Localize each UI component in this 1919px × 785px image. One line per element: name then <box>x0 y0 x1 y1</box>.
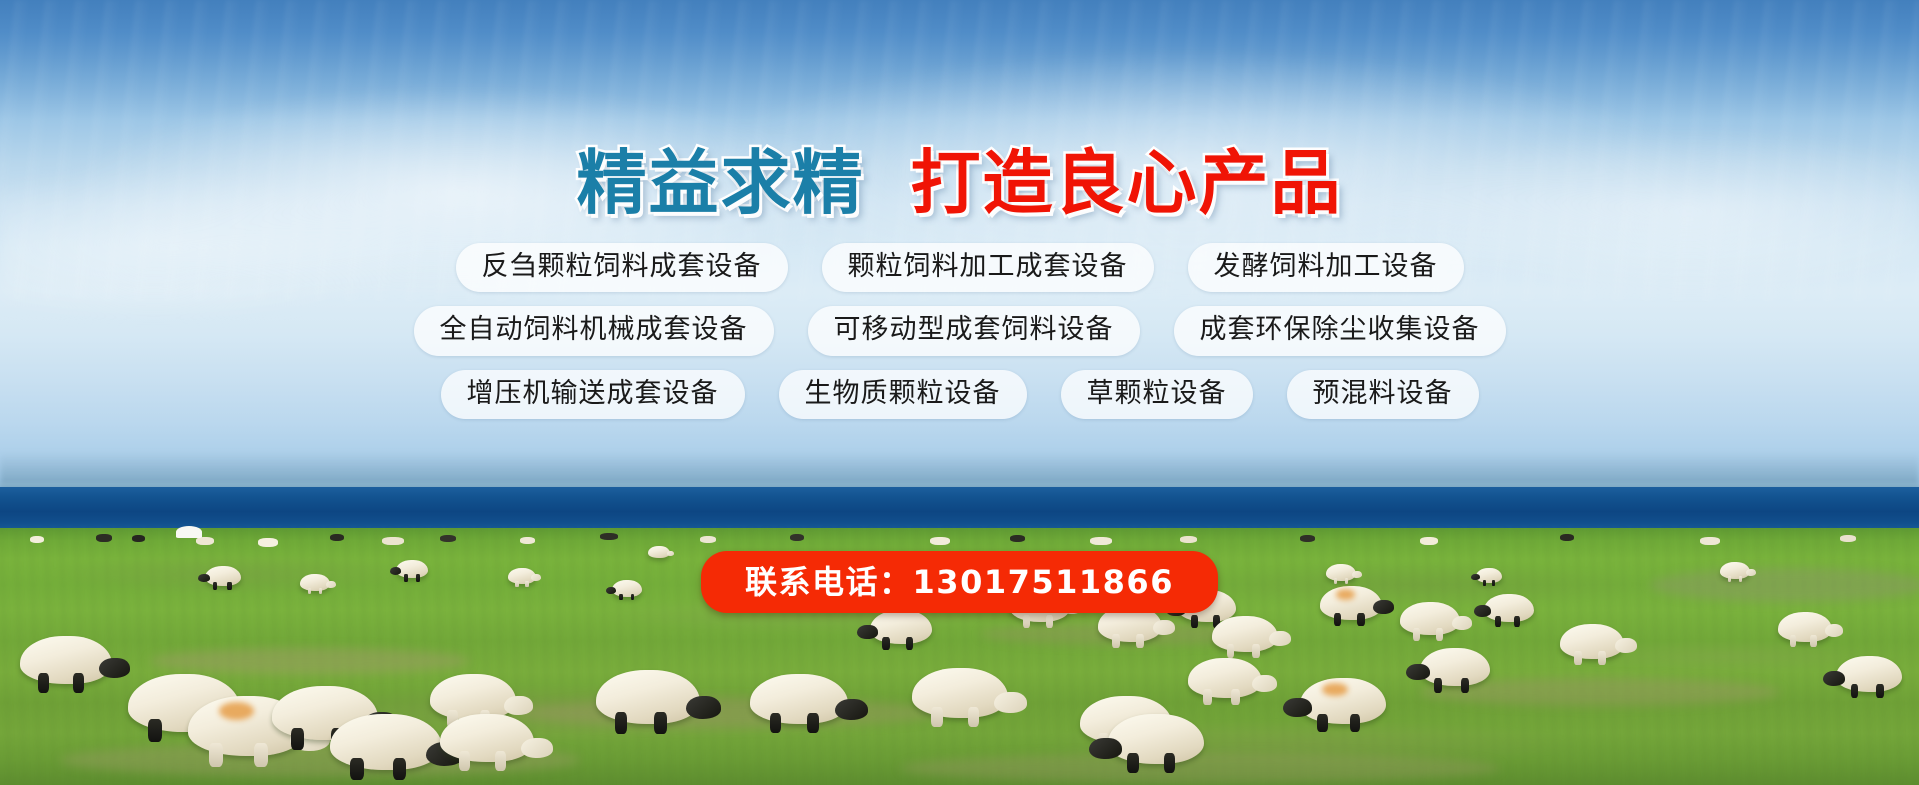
product-category-row: 反刍颗粒饲料成套设备 颗粒饲料加工成套设备 发酵饲料加工设备 <box>0 243 1919 292</box>
contact-phone-area: 联系电话：13017511866 <box>0 551 1919 613</box>
product-category-pill[interactable]: 成套环保除尘收集设备 <box>1174 306 1506 355</box>
product-category-row: 增压机输送成套设备 生物质颗粒设备 草颗粒设备 预混料设备 <box>0 370 1919 419</box>
distant-animal <box>96 534 112 542</box>
sheep <box>1836 656 1902 692</box>
dirt-patch <box>520 698 940 728</box>
sheep <box>1778 612 1832 642</box>
sheep <box>1420 648 1490 686</box>
product-category-pill[interactable]: 草颗粒设备 <box>1061 370 1253 419</box>
distant-animal <box>1560 534 1574 541</box>
sheep <box>1212 616 1278 652</box>
distant-animal <box>930 537 950 545</box>
sheep <box>20 636 112 684</box>
sheep <box>596 670 700 724</box>
distant-animal <box>1300 535 1315 542</box>
distant-animal <box>196 537 214 545</box>
promo-banner: 精益求精打造良心产品 反刍颗粒饲料成套设备 颗粒饲料加工成套设备 发酵饲料加工设… <box>0 0 1919 785</box>
distant-animal <box>382 537 404 545</box>
sheep <box>1560 624 1624 659</box>
distant-animal <box>258 538 278 547</box>
headline-segment-red: 打造良心产品 <box>911 148 1343 218</box>
distant-animal <box>1420 537 1438 545</box>
banner-headline: 精益求精打造良心产品 <box>0 148 1919 218</box>
distant-animal <box>132 535 145 542</box>
sheep <box>1300 678 1386 724</box>
product-category-pill[interactable]: 颗粒饲料加工成套设备 <box>822 243 1154 292</box>
sheep <box>440 714 534 762</box>
yurt-tent <box>176 526 202 538</box>
product-category-list: 反刍颗粒饲料成套设备 颗粒饲料加工成套设备 发酵饲料加工设备 全自动饲料机械成套… <box>0 243 1919 433</box>
contact-phone-pill[interactable]: 联系电话：13017511866 <box>701 551 1218 613</box>
sheep <box>1188 658 1262 698</box>
product-category-pill[interactable]: 生物质颗粒设备 <box>779 370 1027 419</box>
distant-animal <box>1090 537 1112 545</box>
sheep <box>330 714 442 770</box>
distant-animal <box>440 535 456 542</box>
dirt-patch <box>150 648 470 674</box>
distant-animal <box>1700 537 1720 545</box>
lake-water <box>0 487 1919 532</box>
product-category-pill[interactable]: 可移动型成套饲料设备 <box>808 306 1140 355</box>
distant-animal <box>600 533 618 540</box>
product-category-pill[interactable]: 发酵饲料加工设备 <box>1188 243 1464 292</box>
sheep <box>1108 714 1204 764</box>
distant-animal <box>790 534 804 541</box>
distant-animal <box>330 534 344 541</box>
sheep <box>912 668 1008 718</box>
product-category-pill[interactable]: 增压机输送成套设备 <box>441 370 745 419</box>
distant-animal <box>30 536 44 543</box>
distant-animal <box>1180 536 1197 543</box>
product-category-pill[interactable]: 预混料设备 <box>1287 370 1479 419</box>
distant-animal <box>1840 535 1856 542</box>
product-category-pill[interactable]: 全自动饲料机械成套设备 <box>414 306 774 355</box>
product-category-row: 全自动饲料机械成套设备 可移动型成套饲料设备 成套环保除尘收集设备 <box>0 306 1919 355</box>
distant-animal <box>520 537 535 544</box>
sheep <box>750 674 848 724</box>
sheep <box>870 610 932 644</box>
headline-segment-blue: 精益求精 <box>577 148 865 218</box>
distant-animal <box>700 536 716 543</box>
product-category-pill[interactable]: 反刍颗粒饲料成套设备 <box>456 243 788 292</box>
distant-animal <box>1010 535 1025 542</box>
